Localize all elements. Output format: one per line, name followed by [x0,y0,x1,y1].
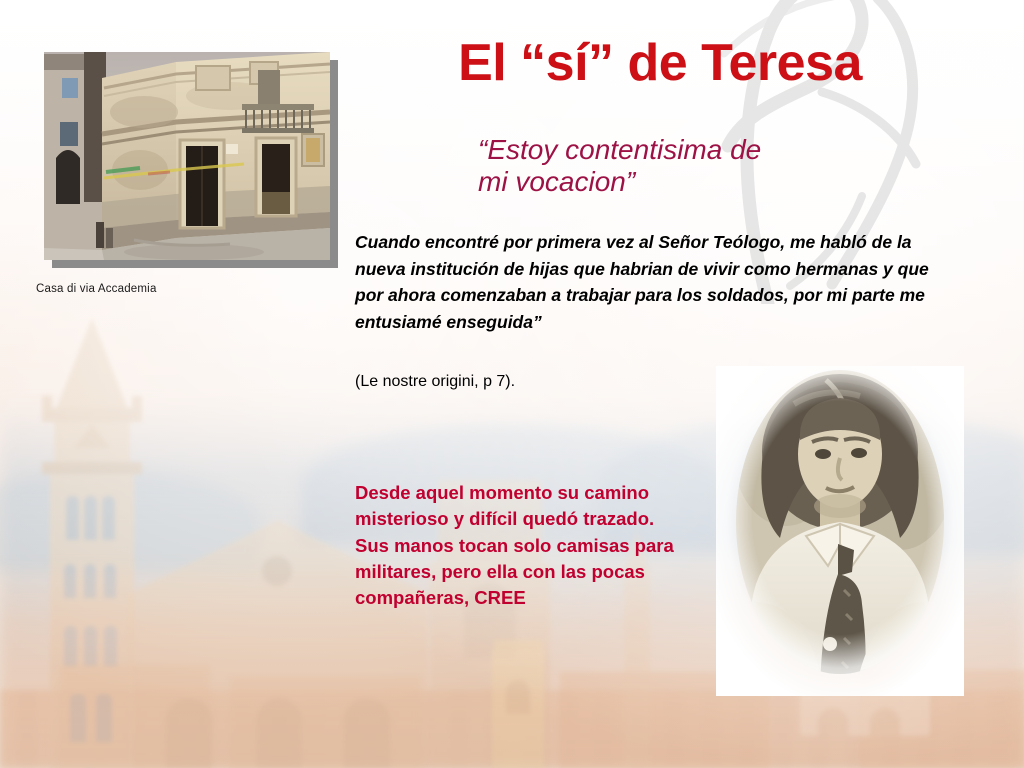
body-citation-text: (Le nostre origini, p 7). [355,371,755,393]
portrait-photo [716,366,964,696]
sepia-portrait-illustration [716,366,964,696]
subtitle-line-2: mi vocacion” [478,166,948,198]
building-photo [44,52,330,260]
corner-building-illustration [44,52,330,260]
slide-canvas: Casa di via Accademia [0,0,1024,768]
lower-highlight-text: Desde aquel momento su camino misterioso… [355,480,735,611]
slide-subtitle: “Estoy contentisima de mi vocacion” [478,134,948,199]
photo-caption: Casa di via Accademia [36,283,157,295]
slide-title: El “sí” de Teresa [330,36,990,91]
subtitle-line-1: “Estoy contentisima de [478,134,948,166]
body-quote-text: Cuando encontré por primera vez al Señor… [355,229,955,335]
